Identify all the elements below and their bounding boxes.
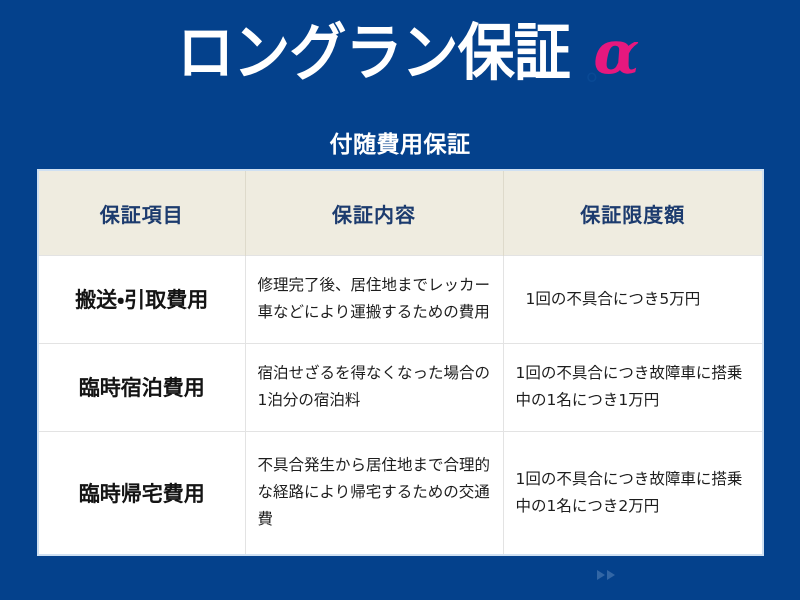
cell-detail: 不具合発生から居住地まで合理的な経路により帰宅するための交通費 xyxy=(245,431,503,554)
cell-limit: 1回の不具合につき故障車に搭乗中の1名につき1万円 xyxy=(503,343,762,431)
table-body: 搬送・引取費用 修理完了後、居住地までレッカー車などにより運搬するための費用 1… xyxy=(39,256,762,555)
cell-limit: 1回の不具合につき故障車に搭乗中の1名につき2万円 xyxy=(503,431,762,554)
watermark-logo-icon xyxy=(596,567,622,583)
page-title: ロングラン保証 xyxy=(177,18,570,88)
cell-limit: 1回の不具合につき5万円 xyxy=(503,256,762,344)
cell-item: 搬送・引取費用 xyxy=(39,256,245,344)
table-row: 臨時宿泊費用 宿泊せざるを得なくなった場合の1泊分の宿泊料 1回の不具合につき故… xyxy=(39,343,762,431)
watermark xyxy=(596,563,776,587)
title-block: ロングラン保証α xyxy=(0,18,800,88)
page-subtitle: 付随費用保証 xyxy=(0,130,800,160)
warranty-table-frame: 保証項目 保証内容 保証限度額 搬送・引取費用 修理完了後、居住地までレッカー車… xyxy=(37,169,764,556)
column-header-limit: 保証限度額 xyxy=(503,171,762,256)
cell-detail: 宿泊せざるを得なくなった場合の1泊分の宿泊料 xyxy=(245,343,503,431)
column-header-item: 保証項目 xyxy=(39,171,245,256)
cell-item: 臨時宿泊費用 xyxy=(39,343,245,431)
cell-item: 臨時帰宅費用 xyxy=(39,431,245,554)
column-header-detail: 保証内容 xyxy=(245,171,503,256)
table-header-row: 保証項目 保証内容 保証限度額 xyxy=(39,171,762,256)
slide-canvas: ロングラン保証α 。 付随費用保証 保証項目 保証内容 保証限度額 搬送・引取費… xyxy=(0,0,800,600)
table-row: 搬送・引取費用 修理完了後、居住地までレッカー車などにより運搬するための費用 1… xyxy=(39,256,762,344)
table-header: 保証項目 保証内容 保証限度額 xyxy=(39,171,762,256)
warranty-table: 保証項目 保証内容 保証限度額 搬送・引取費用 修理完了後、居住地までレッカー車… xyxy=(39,171,762,554)
table-row: 臨時帰宅費用 不具合発生から居住地まで合理的な経路により帰宅するための交通費 1… xyxy=(39,431,762,554)
cell-detail: 修理完了後、居住地までレッカー車などにより運搬するための費用 xyxy=(245,256,503,344)
title-alpha-accent: α xyxy=(593,18,639,88)
